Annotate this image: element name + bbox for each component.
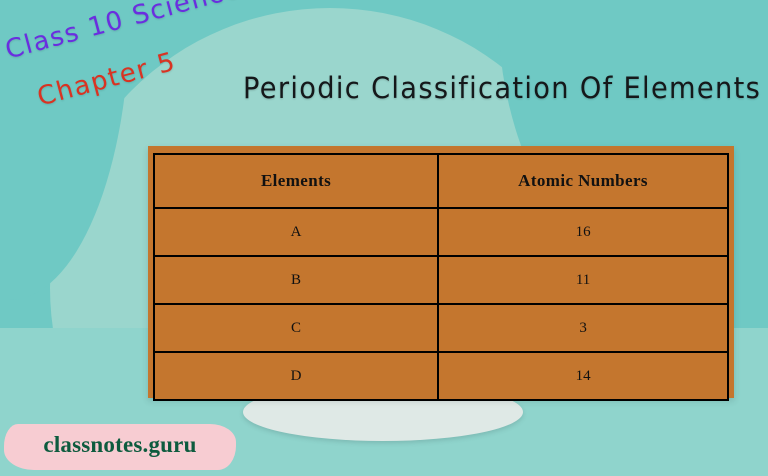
table-row: B 11 [154, 256, 728, 304]
table-header-row: Elements Atomic Numbers [154, 154, 728, 208]
site-watermark: classnotes.guru [4, 424, 236, 470]
slide-canvas: Class 10 Science Chapter 5 Periodic Clas… [0, 0, 768, 476]
table-row: D 14 [154, 352, 728, 400]
cell-element: C [154, 304, 438, 352]
cell-element: B [154, 256, 438, 304]
column-header-elements: Elements [154, 154, 438, 208]
cell-atomic-number: 11 [438, 256, 728, 304]
cell-atomic-number: 3 [438, 304, 728, 352]
cell-element: D [154, 352, 438, 400]
table-row: C 3 [154, 304, 728, 352]
watermark-label: classnotes.guru [4, 432, 236, 458]
cell-atomic-number: 16 [438, 208, 728, 256]
cell-element: A [154, 208, 438, 256]
elements-atomic-numbers-table: Elements Atomic Numbers A 16 B 11 C 3 [153, 153, 729, 401]
table-panel: Elements Atomic Numbers A 16 B 11 C 3 [148, 146, 734, 398]
cell-atomic-number: 14 [438, 352, 728, 400]
column-header-atomic-numbers: Atomic Numbers [438, 154, 728, 208]
page-title: Periodic Classification Of Elements [243, 71, 761, 105]
table-row: A 16 [154, 208, 728, 256]
